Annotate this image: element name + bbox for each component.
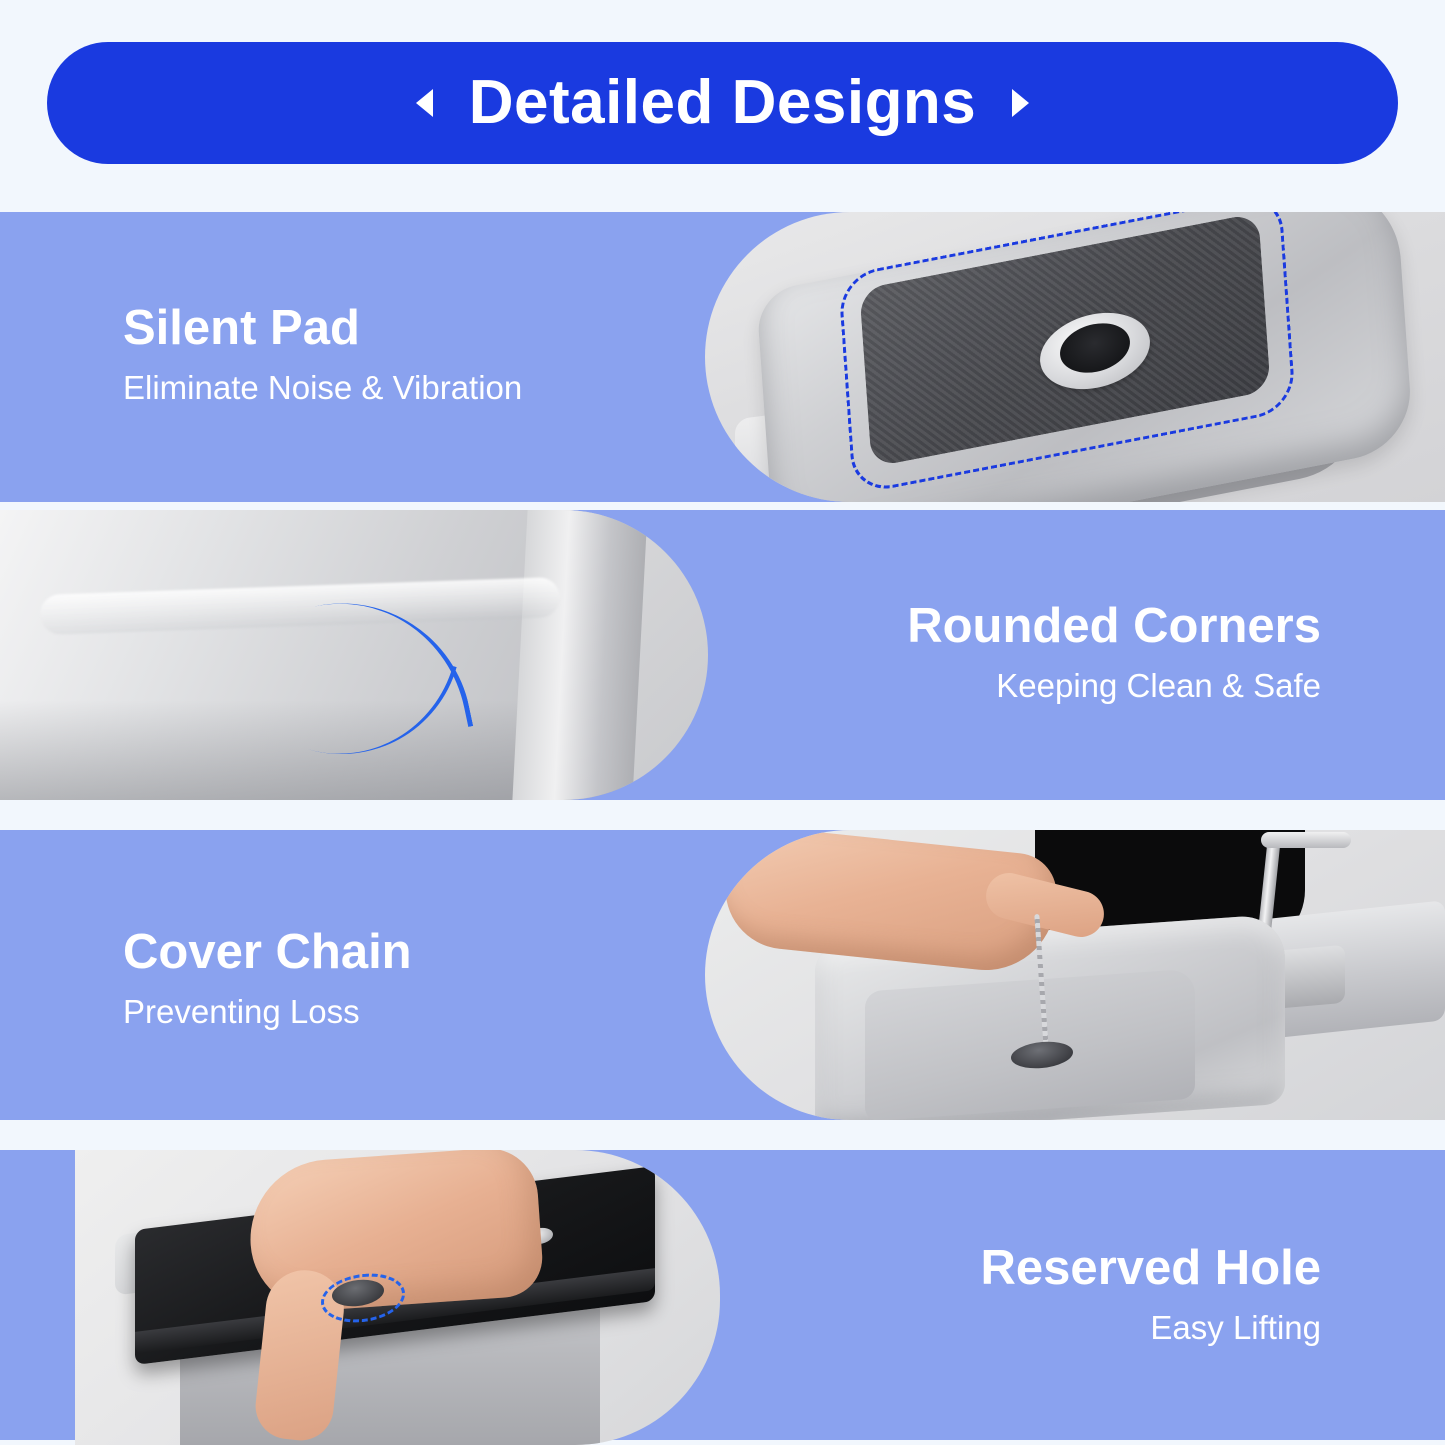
feature-text-reserved-hole: Reserved Hole Easy Lifting [981, 1242, 1321, 1346]
feature-title: Cover Chain [123, 926, 412, 980]
triangle-left-icon[interactable] [416, 89, 433, 117]
faucet-spout-shape [1261, 832, 1351, 848]
feature-image-cover-chain [705, 830, 1445, 1120]
feature-title: Silent Pad [123, 302, 522, 356]
feature-subtitle: Preventing Loss [123, 994, 412, 1030]
feature-row-rounded-corners: Rounded Corners Keeping Clean & Safe [0, 510, 1445, 800]
feature-image-silent-pad [705, 212, 1445, 502]
feature-subtitle: Easy Lifting [981, 1310, 1321, 1346]
feature-image-reserved-hole [75, 1150, 720, 1445]
feature-text-rounded-corners: Rounded Corners Keeping Clean & Safe [907, 600, 1321, 704]
header-banner: Detailed Designs [47, 42, 1398, 164]
feature-row-reserved-hole: Reserved Hole Easy Lifting [0, 1150, 1445, 1445]
feature-subtitle: Eliminate Noise & Vibration [123, 370, 522, 406]
feature-text-cover-chain: Cover Chain Preventing Loss [123, 926, 412, 1030]
feature-subtitle: Keeping Clean & Safe [907, 668, 1321, 704]
feature-row-cover-chain: Cover Chain Preventing Loss [0, 830, 1445, 1120]
feature-title: Reserved Hole [981, 1242, 1321, 1296]
page-title: Detailed Designs [469, 72, 977, 134]
triangle-right-icon[interactable] [1012, 89, 1029, 117]
feature-image-rounded-corners [0, 510, 708, 800]
feature-row-silent-pad: Silent Pad Eliminate Noise & Vibration [0, 212, 1445, 502]
sink-vertical-edge-shape [512, 510, 648, 800]
feature-text-silent-pad: Silent Pad Eliminate Noise & Vibration [123, 302, 522, 406]
feature-title: Rounded Corners [907, 600, 1321, 654]
